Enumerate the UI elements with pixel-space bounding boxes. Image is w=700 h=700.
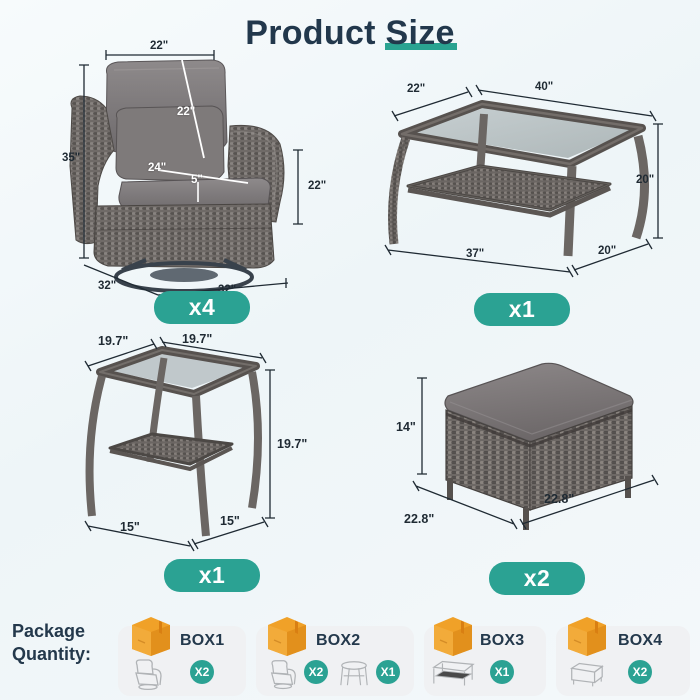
chair-dim-height-left: 35" xyxy=(62,152,80,164)
package-card-box3: BOX3 X1 xyxy=(424,626,546,696)
cardboard-box-icon xyxy=(128,613,174,657)
swivel-chair-illustration xyxy=(62,46,342,296)
cardboard-box-icon xyxy=(564,613,610,657)
chair-dim-cushion-thickness: 5" xyxy=(191,174,203,186)
chair-dim-back-diagonal: 22" xyxy=(177,106,195,118)
product-size-infographic: Product Size xyxy=(0,0,700,700)
package-label-line-1: Package xyxy=(12,620,91,643)
chair-dim-depth-left: 32" xyxy=(98,280,116,292)
chair-dim-arm-height: 22" xyxy=(308,180,326,192)
box3-name: BOX3 xyxy=(480,632,524,650)
box2-name: BOX2 xyxy=(316,632,360,650)
side-table-illustration xyxy=(72,330,352,560)
box4-item1-qty: X2 xyxy=(628,660,652,684)
package-quantity-label: Package Quantity: xyxy=(12,620,91,666)
chair-quantity-badge: x4 xyxy=(154,291,250,324)
box1-name: BOX1 xyxy=(180,632,224,650)
coffee-table-thumb-icon xyxy=(430,658,476,688)
page-title-word-2: Size xyxy=(386,14,455,53)
ottoman-quantity-badge: x2 xyxy=(489,562,585,595)
coffee-table-dim-top-depth: 22" xyxy=(407,83,425,95)
box2-item2-qty: X1 xyxy=(376,660,400,684)
box1-item1-qty: X2 xyxy=(190,660,214,684)
side-table-dim-top-depth: 19.7" xyxy=(98,334,128,348)
cardboard-box-icon xyxy=(264,613,310,657)
coffee-table-illustration xyxy=(372,78,672,293)
package-card-box2: BOX2 X2 X1 xyxy=(256,626,414,696)
side-table-dim-bottom-width: 15" xyxy=(220,514,240,528)
coffee-table-quantity-badge: x1 xyxy=(474,293,570,326)
ottoman-dim-width-front: 22.8" xyxy=(544,492,574,506)
side-table-dim-bottom-depth: 15" xyxy=(120,520,140,534)
ottoman-dim-height-left: 14" xyxy=(396,420,416,434)
coffee-table-dim-height-right: 20" xyxy=(636,174,654,186)
side-table-dim-height-right: 19.7" xyxy=(277,437,307,451)
package-card-box4: BOX4 X2 xyxy=(556,626,690,696)
product-panel-side-table: 19.7" 19.7" 19.7" 15" 15" x1 xyxy=(72,330,352,590)
side-table-dim-top-width: 19.7" xyxy=(182,332,212,346)
coffee-table-dim-bottom-width: 37" xyxy=(466,248,484,260)
cardboard-box-icon xyxy=(430,613,476,657)
chair-thumb-icon xyxy=(266,656,300,690)
box2-item1-qty: X2 xyxy=(304,660,328,684)
box3-item1-qty: X1 xyxy=(490,660,514,684)
product-panel-ottoman: 14" 22.8" 22.8" x2 xyxy=(392,340,682,590)
chair-thumb-icon xyxy=(130,656,166,690)
chair-dim-top-width: 22" xyxy=(150,40,168,52)
product-panel-coffee-table: 22" 40" 20" 37" 20" x1 xyxy=(372,78,672,321)
coffee-table-dim-bottom-depth: 20" xyxy=(598,245,616,257)
box4-name: BOX4 xyxy=(618,632,662,650)
chair-dim-seat-depth: 24" xyxy=(148,162,166,174)
package-card-box1: BOX1 X2 xyxy=(118,626,246,696)
side-table-thumb-icon xyxy=(338,657,370,689)
package-quantity-row: Package Quantity: BOX1 X2 xyxy=(0,608,700,700)
coffee-table-dim-top-width: 40" xyxy=(535,81,553,93)
product-panel-swivel-chair: 22" 22" 24" 5" 35" 22" 32" 32" x4 xyxy=(62,46,342,321)
ottoman-illustration xyxy=(392,340,682,555)
ottoman-thumb-icon xyxy=(566,660,606,688)
ottoman-dim-depth-left: 22.8" xyxy=(404,512,434,526)
side-table-quantity-badge: x1 xyxy=(164,559,260,592)
package-label-line-2: Quantity: xyxy=(12,643,91,666)
